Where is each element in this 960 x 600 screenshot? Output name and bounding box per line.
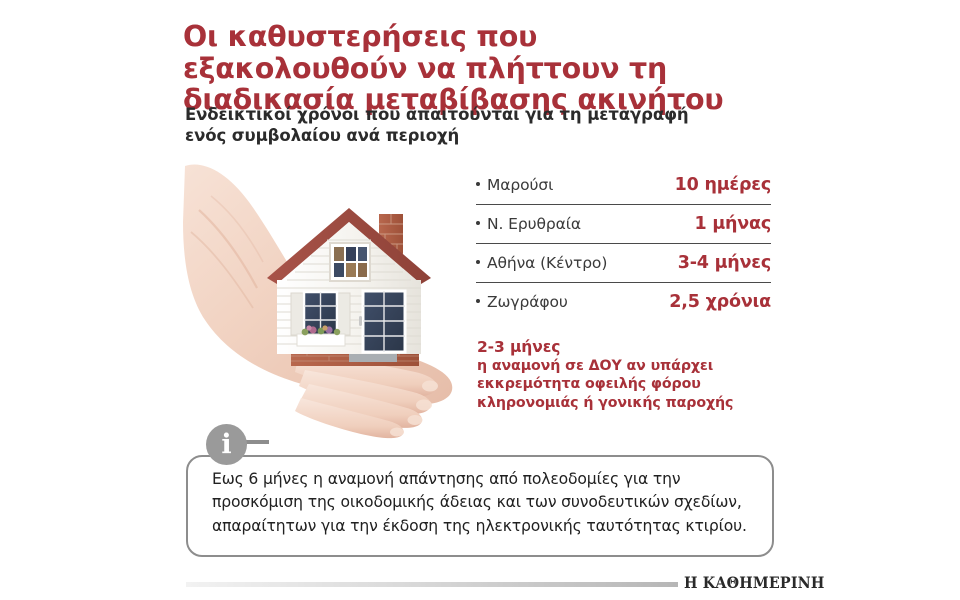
hand-holding-house-image [183, 158, 473, 443]
page-subtitle: Ενδεικτικοί χρόνοι που απαιτούνται για τ… [185, 104, 705, 146]
tax-office-note: 2-3 μήνεςη αναμονή σε ΔΟΥ αν υπάρχει εκκ… [477, 338, 777, 412]
publisher-logo: Η ΚΑΘΗΜΕΡΙΝΗ [684, 573, 825, 592]
bullet-icon [476, 260, 480, 264]
infographic-page: Οι καθυστερήσεις που εξακολουθούν να πλή… [0, 0, 960, 600]
info-icon: i [206, 424, 247, 465]
flower-box [297, 334, 345, 346]
durations-table: Μαρούσι 10 ημέρες Ν. Ερυθραία 1 μήνας Αθ… [476, 166, 771, 321]
info-callout-text: Εως 6 μήνες η αναμονή απάντησης από πολε… [212, 468, 757, 538]
shutter-right [338, 293, 350, 335]
footer-divider [186, 582, 678, 587]
table-row: Ζωγράφου 2,5 χρόνια [476, 283, 771, 321]
table-row: Ν. Ερυθραία 1 μήνας [476, 205, 771, 244]
note-body: η αναμονή σε ΔΟΥ αν υπάρχει εκκρεμότητα … [477, 358, 733, 411]
shutter-left [291, 293, 303, 335]
table-row-label: Ζωγράφου [476, 293, 568, 311]
table-row-label: Μαρούσι [476, 176, 553, 194]
table-row: Αθήνα (Κέντρο) 3-4 μήνες [476, 244, 771, 283]
door-handle [359, 316, 362, 326]
table-row: Μαρούσι 10 ημέρες [476, 166, 771, 205]
table-row-label: Αθήνα (Κέντρο) [476, 254, 607, 272]
table-row-value: 3-4 μήνες [678, 253, 771, 273]
table-row-label: Ν. Ερυθραία [476, 215, 581, 233]
table-row-value: 1 μήνας [694, 214, 771, 234]
bullet-icon [476, 299, 480, 303]
page-title: Οι καθυστερήσεις που εξακολουθούν να πλή… [183, 21, 743, 116]
bullet-icon [476, 221, 480, 225]
table-row-value: 2,5 χρόνια [669, 292, 771, 312]
note-lead: 2-3 μήνες [477, 338, 777, 357]
bullet-icon [476, 182, 480, 186]
table-row-value: 10 ημέρες [675, 175, 771, 195]
